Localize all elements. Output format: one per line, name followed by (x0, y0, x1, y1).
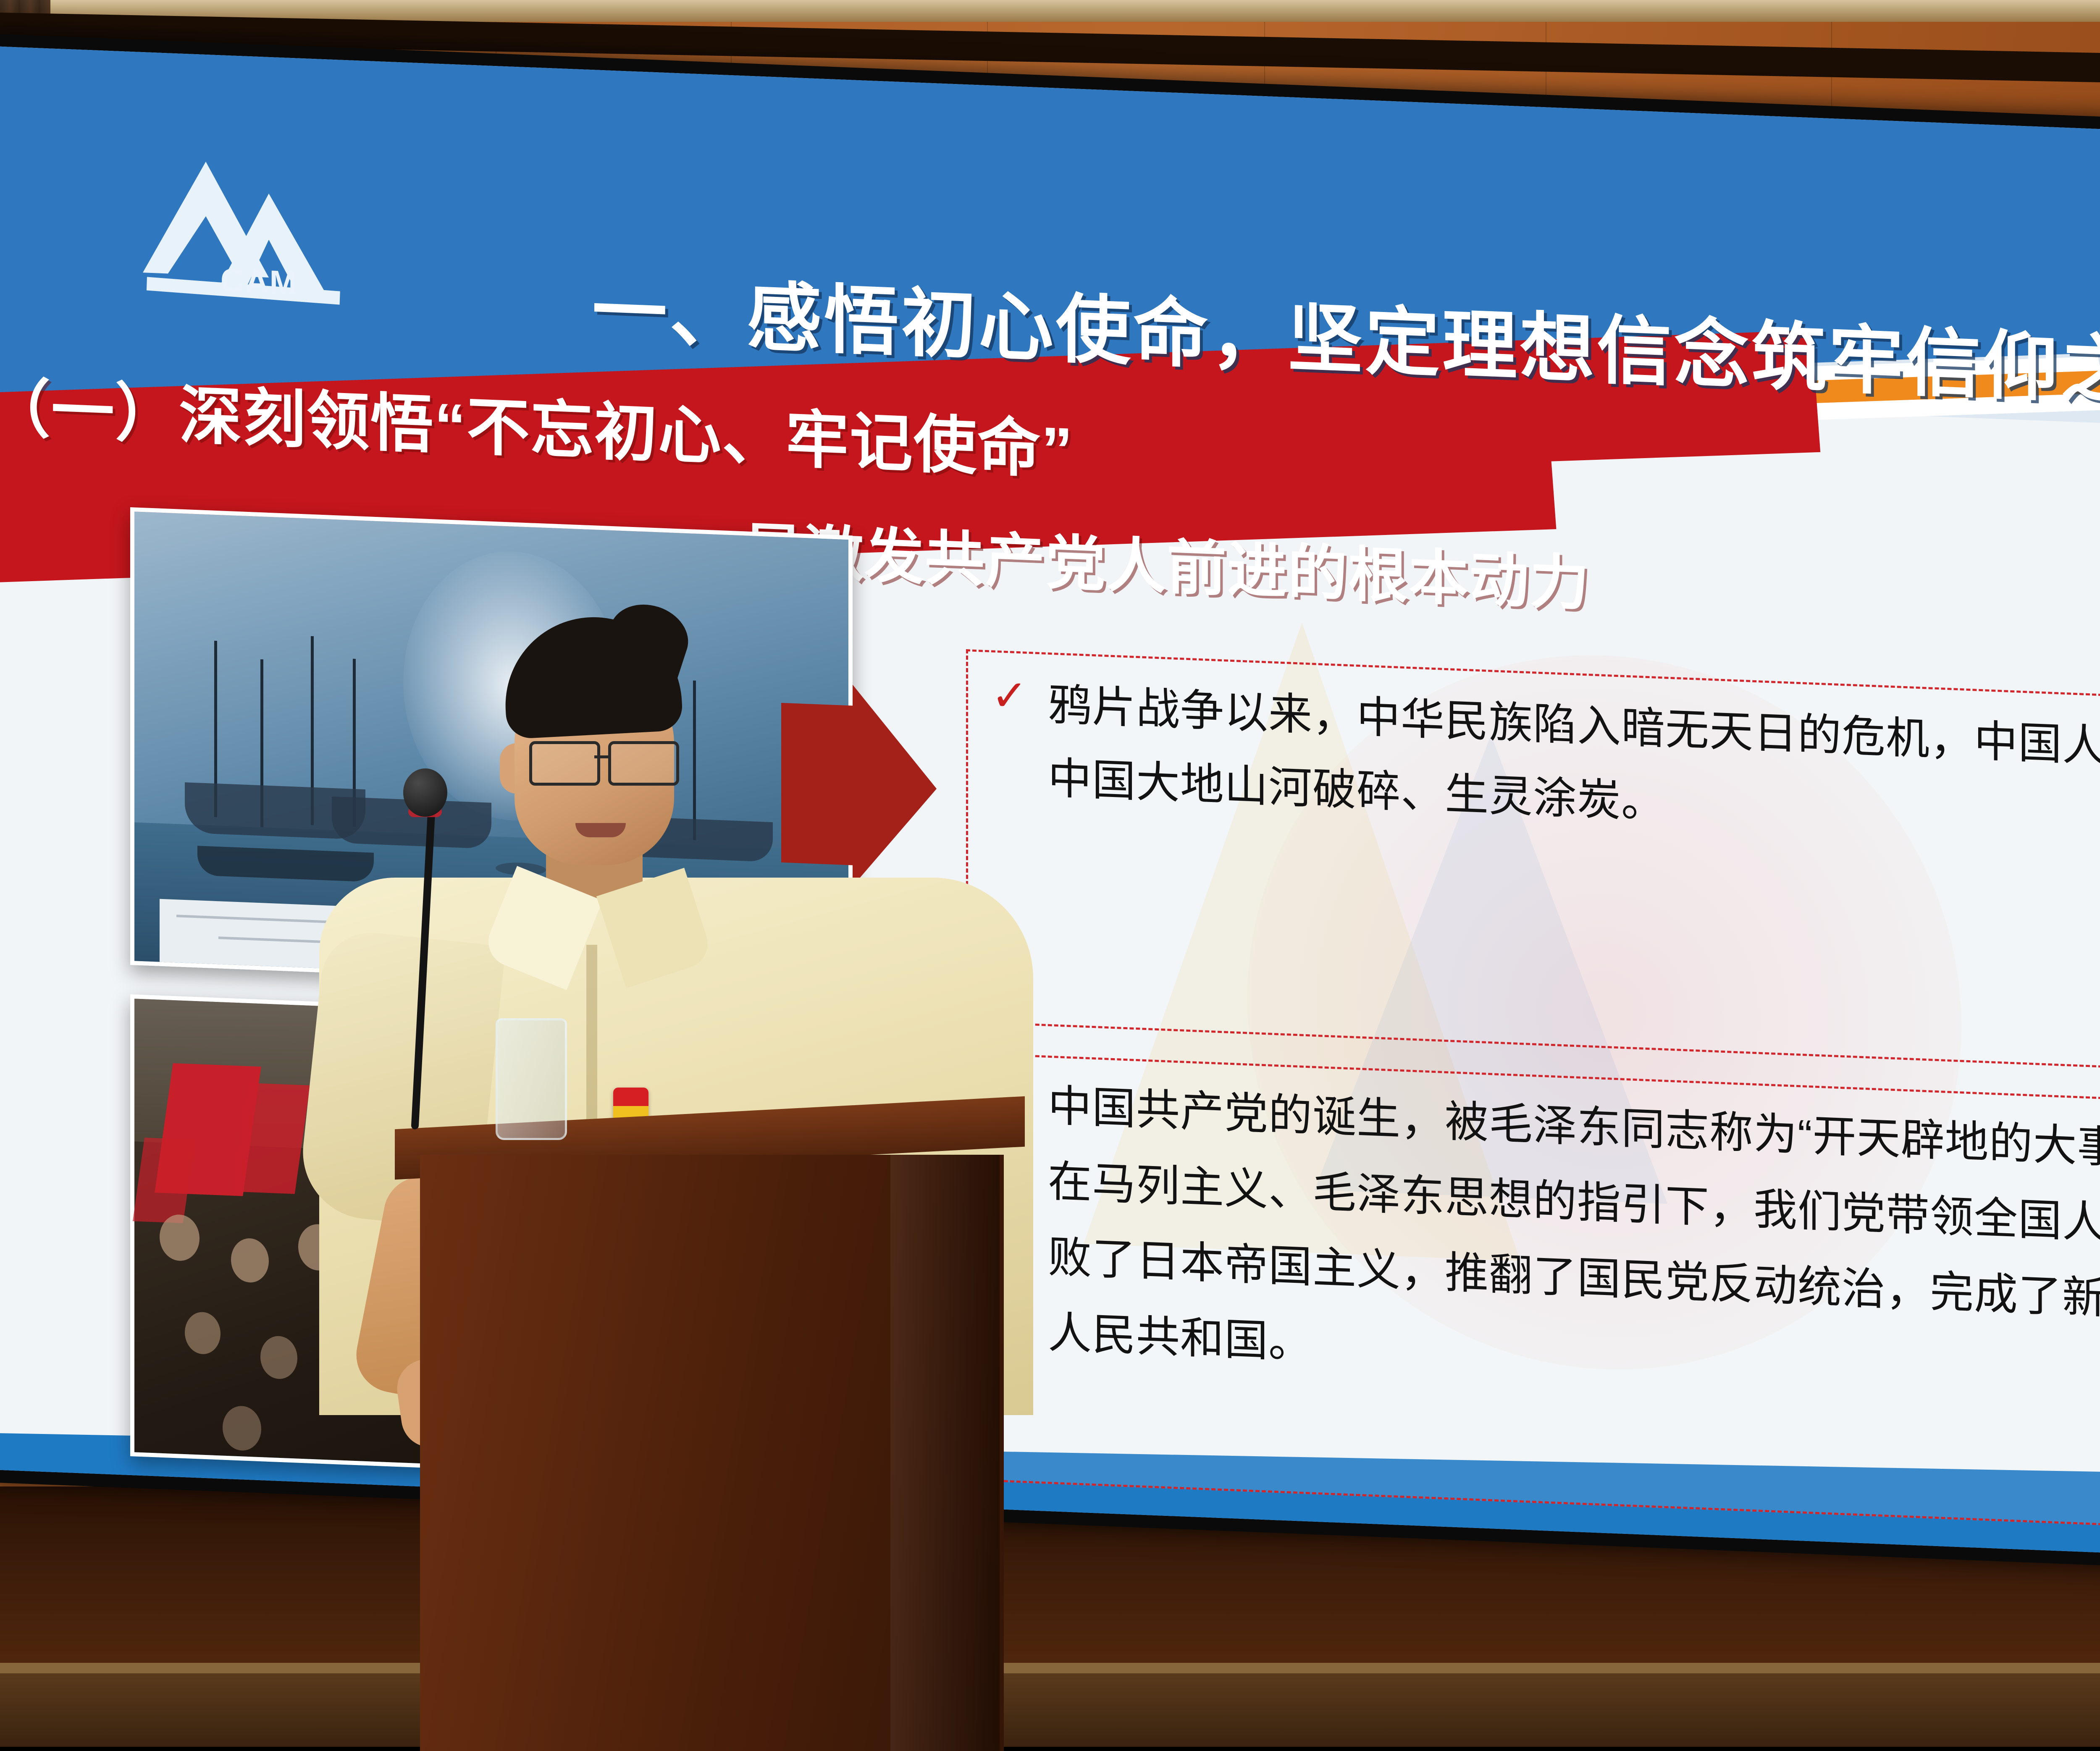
projection-screen: CAM CAM 一、感悟初心使命，坚定理想信念筑牢信仰之基 （一）深刻领悟“不忘… (0, 0, 2100, 1520)
box2-line-4: 人民共和国。 (1048, 1299, 1312, 1377)
logo-wordmark: CAM (220, 261, 298, 302)
microphone-head (403, 768, 447, 817)
content-box-2: ✓ 中国共产党的诞生，被毛泽东同志称为“开天辟地的大事变”。 ✓ 在马列主义、毛… (966, 1052, 2100, 1536)
water-glass (496, 1018, 567, 1140)
glasses-icon (529, 741, 676, 781)
content-box-1: ✓ 鸦片战争以来，中华民族陷入暗无天日的危机，中国人民遭受前所未有的苦难， 中国… (966, 649, 2100, 1078)
floor (0, 1673, 2100, 1747)
podium (395, 1113, 1025, 1747)
podium-side-edge (890, 1155, 1000, 1751)
presentation-slide: CAM CAM 一、感悟初心使命，坚定理想信念筑牢信仰之基 （一）深刻领悟“不忘… (0, 46, 2100, 1566)
cam-mountain-logo-icon (143, 151, 344, 327)
mouth (575, 823, 626, 837)
